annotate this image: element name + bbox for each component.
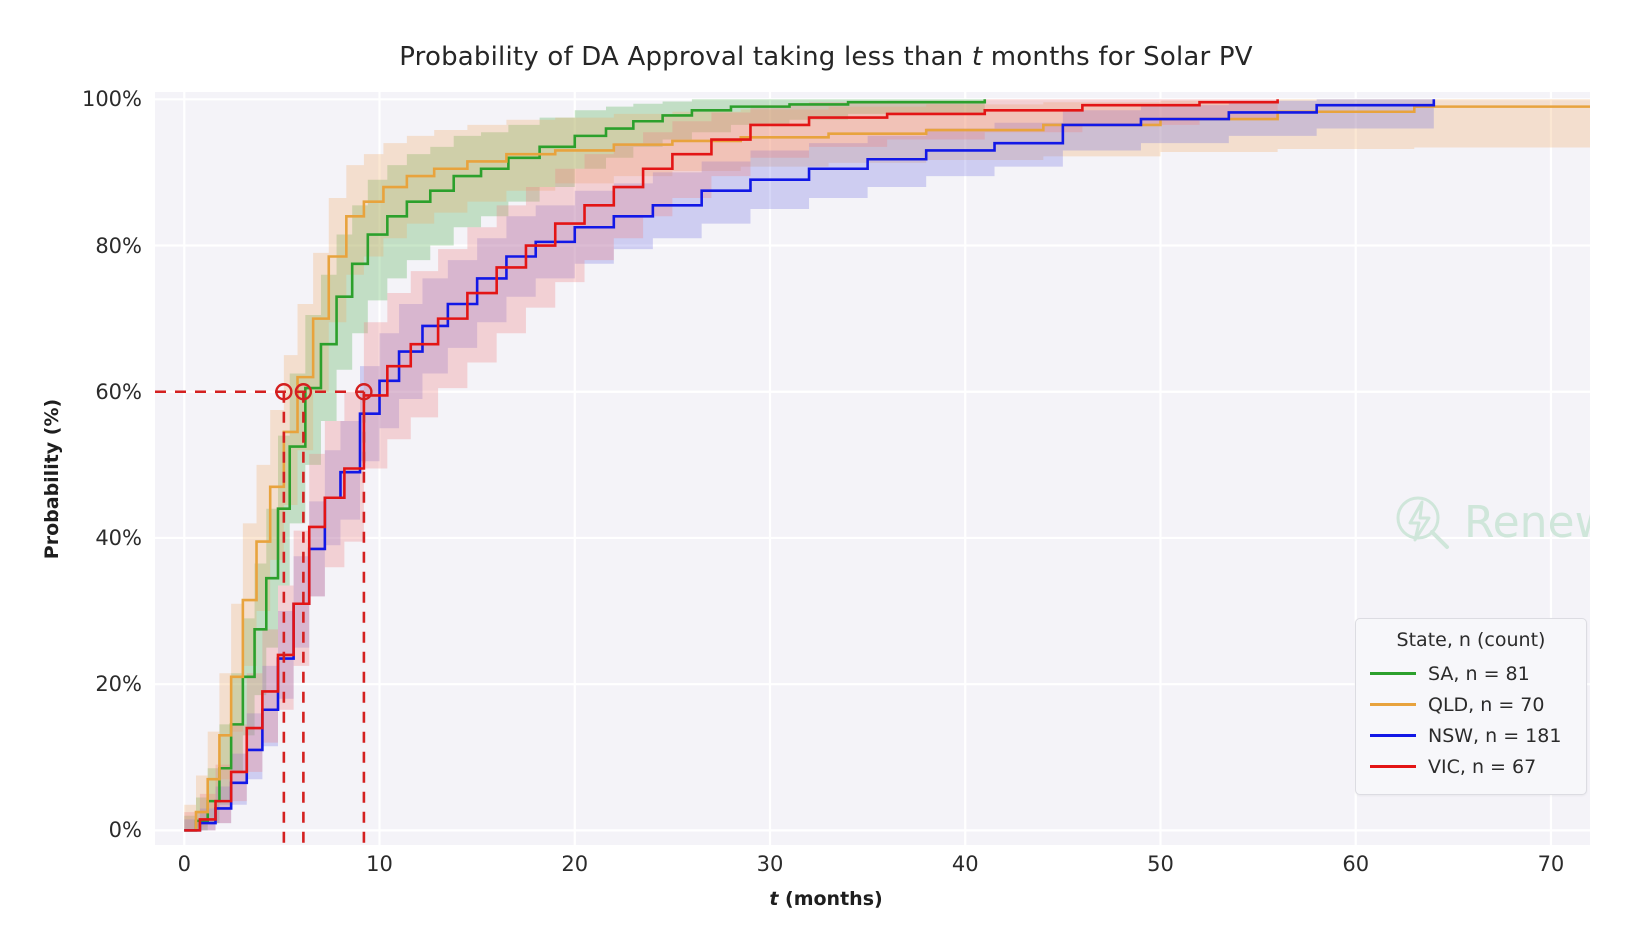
x-axis-label: t (months) [0,888,1652,910]
x-tick-label: 70 [1491,852,1611,876]
y-tick-label: 60% [2,380,142,404]
x-tick-label: 20 [515,852,635,876]
legend-swatch-vic [1370,765,1416,768]
legend-label: SA, n = 81 [1428,663,1530,685]
legend-label: QLD, n = 70 [1428,694,1544,716]
legend-swatch-sa [1370,672,1416,675]
y-tick-label: 40% [2,526,142,550]
y-tick-label: 20% [2,672,142,696]
x-tick-label: 0 [124,852,244,876]
legend-item-nsw[interactable]: NSW, n = 181 [1370,720,1572,751]
x-tick-label: 40 [905,852,1025,876]
y-tick-label: 0% [2,818,142,842]
y-tick-label: 100% [2,87,142,111]
legend-label: VIC, n = 67 [1428,756,1536,778]
chart-title-pre: Probability of DA Approval taking less t… [399,42,972,72]
legend-item-sa[interactable]: SA, n = 81 [1370,658,1572,689]
x-tick-label: 10 [320,852,440,876]
legend-swatch-nsw [1370,734,1416,737]
legend-item-qld[interactable]: QLD, n = 70 [1370,689,1572,720]
chart-title-post: months for Solar PV [982,42,1252,72]
chart-figure: Probability of DA Approval taking less t… [0,0,1652,952]
x-axis-label-post: (months) [778,888,882,910]
x-tick-label: 60 [1296,852,1416,876]
legend-label: NSW, n = 181 [1428,725,1561,747]
legend-swatch-qld [1370,703,1416,706]
chart-title-italic-t: t [972,42,982,72]
legend-title: State, n (count) [1370,629,1572,651]
x-tick-label: 50 [1100,852,1220,876]
x-tick-label: 30 [710,852,830,876]
chart-title: Probability of DA Approval taking less t… [0,42,1652,72]
legend-item-vic[interactable]: VIC, n = 67 [1370,751,1572,782]
y-tick-label: 80% [2,234,142,258]
chart-legend: State, n (count) SA, n = 81QLD, n = 70NS… [1355,618,1587,795]
legend-rows: SA, n = 81QLD, n = 70NSW, n = 181VIC, n … [1370,658,1572,782]
